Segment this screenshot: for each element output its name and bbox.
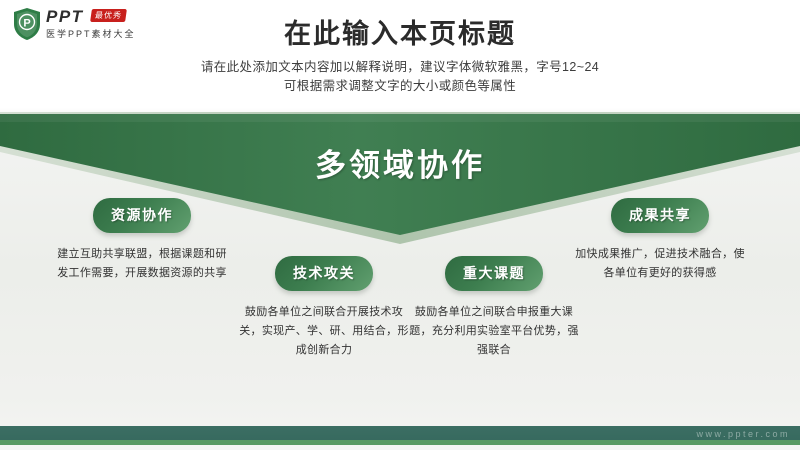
page-subtitle-line-1: 请在此处添加文本内容加以解释说明，建议字体微软雅黑，字号12~24 xyxy=(0,58,800,77)
feature-pill-4[interactable]: 成果共享 xyxy=(611,198,709,233)
page-subtitle-line-2: 可根据需求调整文字的大小或颜色等属性 xyxy=(0,77,800,96)
feature-desc-3: 鼓励各单位之间联合申报重大课题，充分利用实验室平台优势，强强联合 xyxy=(408,303,580,360)
banner-label: 多领域协作 xyxy=(0,140,800,185)
feature-column-1: 资源协作 建立互助共享联盟，根据课题和研发工作需要，开展数据资源的共享 xyxy=(52,198,232,283)
feature-pill-2[interactable]: 技术攻关 xyxy=(275,256,373,291)
feature-pill-1[interactable]: 资源协作 xyxy=(93,198,191,233)
page-subtitle: 请在此处添加文本内容加以解释说明，建议字体微软雅黑，字号12~24 可根据需求调… xyxy=(0,58,800,96)
feature-pill-3[interactable]: 重大课题 xyxy=(445,256,543,291)
footer-watermark-url: www.ppter.com xyxy=(696,429,790,439)
feature-desc-2: 鼓励各单位之间联合开展技术攻关，实现产、学、研、用结合，形成创新合力 xyxy=(238,303,410,360)
page-title: 在此输入本页标题 xyxy=(0,18,800,50)
feature-desc-4: 加快成果推广，促进技术融合，使各单位有更好的获得感 xyxy=(570,245,750,283)
footer-bar xyxy=(0,426,800,440)
slide-header: 在此输入本页标题 请在此处添加文本内容加以解释说明，建议字体微软雅黑，字号12~… xyxy=(0,18,800,96)
feature-desc-1: 建立互助共享联盟，根据课题和研发工作需要，开展数据资源的共享 xyxy=(52,245,232,283)
footer-accent-strip xyxy=(0,440,800,445)
feature-column-3: 重大课题 鼓励各单位之间联合申报重大课题，充分利用实验室平台优势，强强联合 xyxy=(408,256,580,360)
feature-column-2: 技术攻关 鼓励各单位之间联合开展技术攻关，实现产、学、研、用结合，形成创新合力 xyxy=(238,256,410,360)
slide-canvas: P PPT 最优秀 医学PPT素材大全 在此输入本页标题 请在此处添加文本内容加… xyxy=(0,0,800,450)
feature-column-4: 成果共享 加快成果推广，促进技术融合，使各单位有更好的获得感 xyxy=(570,198,750,283)
